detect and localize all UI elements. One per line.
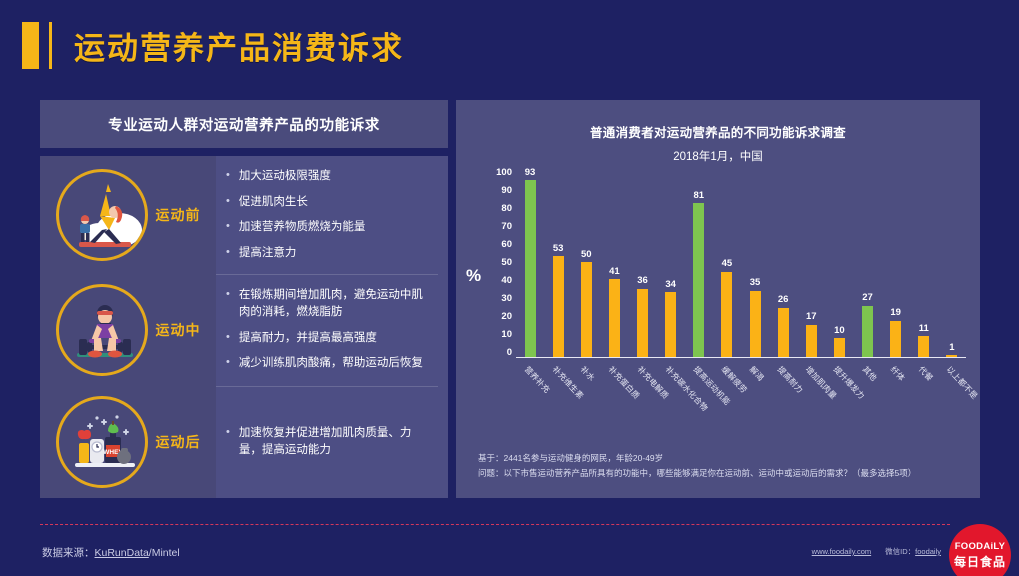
- bullet-text: 提高注意力: [239, 245, 297, 262]
- bar[interactable]: [581, 262, 592, 357]
- bullet-dot-icon: •: [226, 355, 230, 371]
- x-label-slot: 提升爆发力: [825, 360, 853, 438]
- y-axis-tick: 70: [501, 222, 512, 232]
- bar-value-label: 11: [919, 324, 929, 334]
- x-label-slot: 纤体: [882, 360, 910, 438]
- left-panel: 专业运动人群对运动营养产品的功能诉求: [40, 100, 448, 498]
- whey-protein-icon: WHEY: [56, 396, 148, 488]
- y-axis-tick: 80: [501, 204, 512, 214]
- list-item: •促进肌肉生长: [226, 194, 434, 211]
- bar-slot: 45: [713, 167, 741, 357]
- slide-title-row: 运动营养产品消费诉求: [22, 22, 404, 69]
- stage-icon-cell: 运动前: [40, 156, 216, 274]
- stage-row-pre-workout: 运动前 •加大运动极限强度 •促进肌肉生长 •加速营养物质燃烧为能量 •提高注意…: [40, 156, 448, 274]
- wechat-id: 微信ID：foodaily: [885, 546, 941, 557]
- stage-row-post-workout: WHEY: [40, 386, 448, 498]
- title-accent-bar-thick: [22, 22, 39, 69]
- logo-text-cn: 每日食品: [954, 553, 1006, 570]
- bar-value-label: 10: [834, 326, 845, 336]
- bar-value-label: 19: [890, 308, 901, 318]
- bar[interactable]: [721, 272, 732, 358]
- bar-series: 9353504136348145352617102719111: [516, 167, 966, 357]
- y-axis-tick: 10: [501, 330, 512, 340]
- x-axis-tick-label: 其他: [860, 364, 879, 384]
- stage-label: 运动后: [156, 432, 201, 452]
- bar-slot: 81: [685, 167, 713, 357]
- bullet-dot-icon: •: [226, 194, 230, 210]
- bar-slot: 41: [600, 167, 628, 357]
- bar-value-label: 34: [665, 280, 676, 290]
- x-axis-tick-label: 纤体: [888, 364, 907, 384]
- x-label-slot: 提高运动机能: [685, 360, 713, 438]
- x-axis-labels: 营养补充补充维生素补水补充蛋白质补充电解质补充碳水化合物提高运动机能缓解疲劳解渴…: [516, 360, 966, 438]
- x-label-slot: 解渴: [741, 360, 769, 438]
- plot-region: 9353504136348145352617102719111: [516, 168, 966, 358]
- bar-value-label: 26: [778, 295, 789, 305]
- bar-slot: 93: [516, 167, 544, 357]
- slide-canvas: 运动营养产品消费诉求 专业运动人群对运动营养产品的功能诉求: [0, 0, 1019, 576]
- stage-bullets: •加大运动极限强度 •促进肌肉生长 •加速营养物质燃烧为能量 •提高注意力: [216, 156, 448, 274]
- y-axis-tick: 30: [501, 294, 512, 304]
- bullet-dot-icon: •: [226, 245, 230, 261]
- bullet-dot-icon: •: [226, 425, 230, 441]
- x-axis-tick-label: 以上都不是: [944, 364, 980, 401]
- y-axis-tick: 100: [496, 168, 512, 178]
- bar-value-label: 35: [750, 278, 761, 288]
- bar-slot: 19: [882, 167, 910, 357]
- bar-slot: 53: [544, 167, 572, 357]
- bar[interactable]: [665, 292, 676, 357]
- wechat-value: foodaily: [915, 547, 941, 556]
- wechat-label: 微信ID：: [885, 547, 915, 556]
- bar-slot: 35: [741, 167, 769, 357]
- bar-slot: 1: [938, 167, 966, 357]
- bar-slot: 34: [657, 167, 685, 357]
- bullet-text: 促进肌肉生长: [239, 194, 308, 211]
- bullet-dot-icon: •: [226, 330, 230, 346]
- bar-value-label: 27: [862, 293, 873, 303]
- y-axis-ticks: 1009080706050403020100: [486, 168, 512, 358]
- bullet-dot-icon: •: [226, 168, 230, 184]
- stage-icon-cell: WHEY: [40, 386, 216, 498]
- bar-slot: 50: [572, 167, 600, 357]
- bar[interactable]: [609, 279, 620, 357]
- chart-footnotes: 基于：2441名参与运动健身的网民，年龄20-49岁 问题：以下市售运动营养产品…: [478, 451, 916, 480]
- y-axis-tick: 0: [507, 348, 512, 358]
- stage-bullets: •在锻炼期间增加肌肉，避免运动中肌肉的消耗，燃烧脂肪 •提高耐力，并提高最高强度…: [216, 274, 448, 386]
- list-item: •加速恢复并促进增加肌肉质量、力量，提高运动能力: [226, 425, 434, 458]
- stage-bullets: •加速恢复并促进增加肌肉质量、力量，提高运动能力: [216, 386, 448, 498]
- foodaily-logo: FOODAiLY 每日食品: [949, 524, 1011, 576]
- bar[interactable]: [637, 289, 648, 357]
- left-panel-header: 专业运动人群对运动营养产品的功能诉求: [40, 100, 448, 148]
- footer-contact: www.foodaily.com 微信ID：foodaily: [812, 546, 941, 557]
- bar[interactable]: [806, 325, 817, 357]
- list-item: •在锻炼期间增加肌肉，避免运动中肌肉的消耗，燃烧脂肪: [226, 287, 434, 320]
- y-axis-label: %: [466, 266, 481, 286]
- y-axis-tick: 60: [501, 240, 512, 250]
- stage-icon-cell: 运动中: [40, 274, 216, 386]
- list-item: •加速营养物质燃烧为能量: [226, 219, 434, 236]
- bar[interactable]: [778, 308, 789, 357]
- x-label-slot: 补充电解质: [629, 360, 657, 438]
- x-axis-tick-label: 代餐: [916, 364, 935, 384]
- bar-value-label: 36: [637, 276, 648, 286]
- data-source-suffix: /Mintel: [149, 547, 180, 559]
- bar-slot: 26: [769, 167, 797, 357]
- x-label-slot: 补水: [572, 360, 600, 438]
- x-label-slot: 补充蛋白质: [600, 360, 628, 438]
- title-accent-bar-thin: [49, 22, 52, 69]
- bar[interactable]: [525, 180, 536, 357]
- bar-slot: 17: [797, 167, 825, 357]
- yoga-stretch-icon: [56, 169, 148, 261]
- bullet-text: 提高耐力，并提高最高强度: [239, 330, 377, 347]
- website-link[interactable]: www.foodaily.com: [812, 547, 871, 556]
- logo-text-en: FOODAiLY: [955, 541, 1006, 552]
- bullet-dot-icon: •: [226, 287, 230, 303]
- bar-slot: 11: [910, 167, 938, 357]
- bar[interactable]: [862, 306, 873, 357]
- chart-area: % 1009080706050403020100 935350413634814…: [456, 168, 980, 438]
- bar-value-label: 17: [806, 312, 817, 322]
- bullet-text: 加速营养物质燃烧为能量: [239, 219, 366, 236]
- x-label-slot: 缓解疲劳: [713, 360, 741, 438]
- bar-value-label: 53: [553, 244, 564, 254]
- bar-value-label: 93: [525, 168, 536, 178]
- bar[interactable]: [693, 203, 704, 357]
- x-axis-tick-label: 解渴: [747, 364, 766, 384]
- bar[interactable]: [890, 321, 901, 357]
- x-label-slot: 提高耐力: [769, 360, 797, 438]
- chart-question-note: 问题：以下市售运动营养产品所具有的功能中，哪些能够满足你在运动前、运动中或运动后…: [478, 466, 916, 480]
- bar-slot: 36: [629, 167, 657, 357]
- bullet-text: 加速恢复并促进增加肌肉质量、力量，提高运动能力: [239, 425, 434, 458]
- chart-panel: 普通消费者对运动营养品的不同功能诉求调查 2018年1月，中国 % 100908…: [456, 100, 980, 498]
- x-label-slot: 补充维生素: [544, 360, 572, 438]
- chart-title: 普通消费者对运动营养品的不同功能诉求调查: [456, 122, 980, 141]
- y-axis-tick: 90: [501, 186, 512, 196]
- bar-value-label: 50: [581, 250, 592, 260]
- x-axis-tick-label: 补水: [578, 364, 597, 384]
- bar-slot: 10: [825, 167, 853, 357]
- left-panel-body: 运动前 •加大运动极限强度 •促进肌肉生长 •加速营养物质燃烧为能量 •提高注意…: [40, 156, 448, 498]
- bar[interactable]: [553, 256, 564, 357]
- bar[interactable]: [834, 338, 845, 357]
- bullet-dot-icon: •: [226, 219, 230, 235]
- bullet-text: 在锻炼期间增加肌肉，避免运动中肌肉的消耗，燃烧脂肪: [239, 287, 434, 320]
- list-item: •减少训练肌肉酸痛，帮助运动后恢复: [226, 355, 434, 372]
- chart-base-note: 基于：2441名参与运动健身的网民，年龄20-49岁: [478, 451, 916, 465]
- x-label-slot: 代餐: [910, 360, 938, 438]
- list-item: •提高注意力: [226, 245, 434, 262]
- chart-subtitle: 2018年1月，中国: [456, 148, 980, 164]
- y-axis-tick: 50: [501, 258, 512, 268]
- footer-divider: [40, 524, 950, 525]
- data-source-label: 数据来源：: [42, 547, 95, 559]
- x-label-slot: 其他: [854, 360, 882, 438]
- data-source: 数据来源：KuRunData/Mintel: [42, 545, 180, 560]
- bullet-text: 加大运动极限强度: [239, 168, 331, 185]
- weightlifter-icon: [56, 284, 148, 376]
- page-title: 运动营养产品消费诉求: [74, 23, 404, 68]
- list-item: •加大运动极限强度: [226, 168, 434, 185]
- x-label-slot: 营养补充: [516, 360, 544, 438]
- stage-label: 运动中: [156, 320, 201, 340]
- bullet-text: 减少训练肌肉酸痛，帮助运动后恢复: [239, 355, 423, 372]
- data-source-link[interactable]: KuRunData: [95, 547, 149, 559]
- bar[interactable]: [750, 291, 761, 358]
- stage-label: 运动前: [156, 205, 201, 225]
- x-label-slot: 补充碳水化合物: [657, 360, 685, 438]
- y-axis-tick: 20: [501, 312, 512, 322]
- bar-value-label: 41: [609, 267, 620, 277]
- x-label-slot: 以上都不是: [938, 360, 966, 438]
- x-label-slot: 增加肌肉量: [797, 360, 825, 438]
- list-item: •提高耐力，并提高最高强度: [226, 330, 434, 347]
- stage-row-during-workout: 运动中 •在锻炼期间增加肌肉，避免运动中肌肉的消耗，燃烧脂肪 •提高耐力，并提高…: [40, 274, 448, 386]
- bar-value-label: 81: [694, 191, 705, 201]
- bar[interactable]: [918, 336, 929, 357]
- bar-value-label: 1: [949, 343, 954, 353]
- bar-value-label: 45: [722, 259, 733, 269]
- bar-slot: 27: [854, 167, 882, 357]
- bar[interactable]: [946, 355, 957, 357]
- y-axis-tick: 40: [501, 276, 512, 286]
